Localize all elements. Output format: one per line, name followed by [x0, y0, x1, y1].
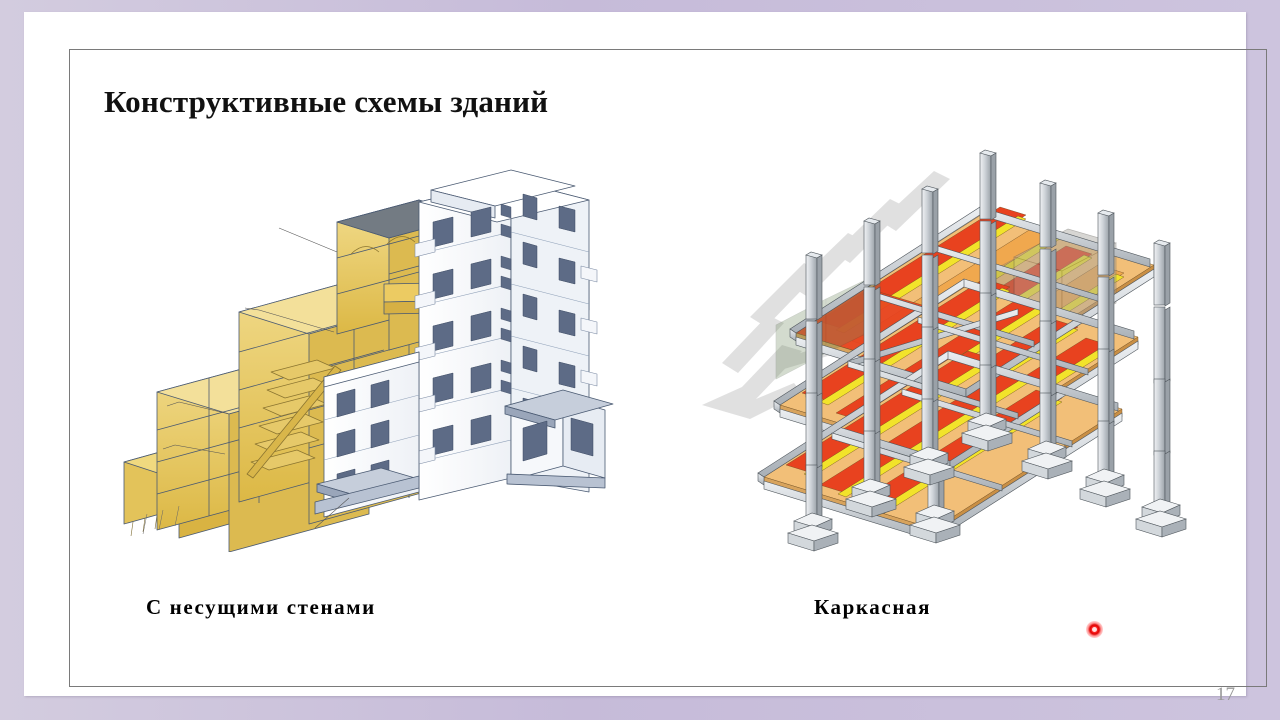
figure-load-bearing-walls [119, 162, 619, 552]
page-title: Конструктивные схемы зданий [104, 84, 548, 120]
caption-frame-structure: Каркасная [814, 595, 931, 620]
caption-load-bearing-walls: С несущими стенами [146, 595, 376, 620]
laser-pointer-dot [1086, 621, 1103, 638]
slide-outer-frame: Конструктивные схемы зданий [0, 0, 1280, 720]
slide-page-number: 17 [1216, 684, 1235, 706]
slide-canvas: Конструктивные схемы зданий [24, 12, 1246, 696]
figure-frame-structure [684, 137, 1204, 557]
